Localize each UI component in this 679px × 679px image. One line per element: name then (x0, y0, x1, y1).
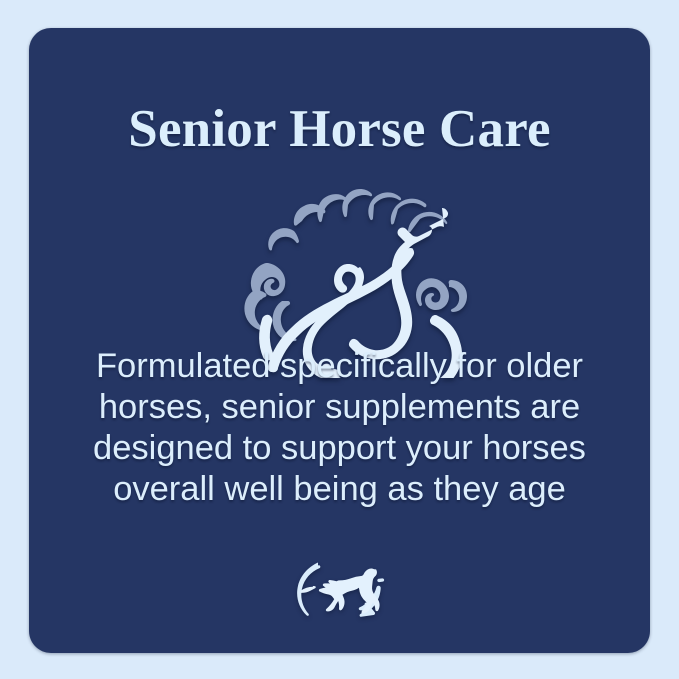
description-line: overall well being as they age (57, 469, 622, 510)
page-background: Senior Horse Care (0, 0, 679, 679)
description-line: horses, senior supplements are (57, 387, 622, 428)
description-text: Formulated specifically for older horses… (57, 346, 622, 510)
description-line: designed to support your horses (57, 428, 622, 469)
galloping-horse-logo-icon (284, 554, 396, 626)
page-title: Senior Horse Care (29, 100, 650, 158)
card-content: Senior Horse Care (29, 28, 650, 653)
senior-horse-care-card: Senior Horse Care (29, 28, 650, 653)
description-line: Formulated specifically for older (57, 346, 622, 387)
